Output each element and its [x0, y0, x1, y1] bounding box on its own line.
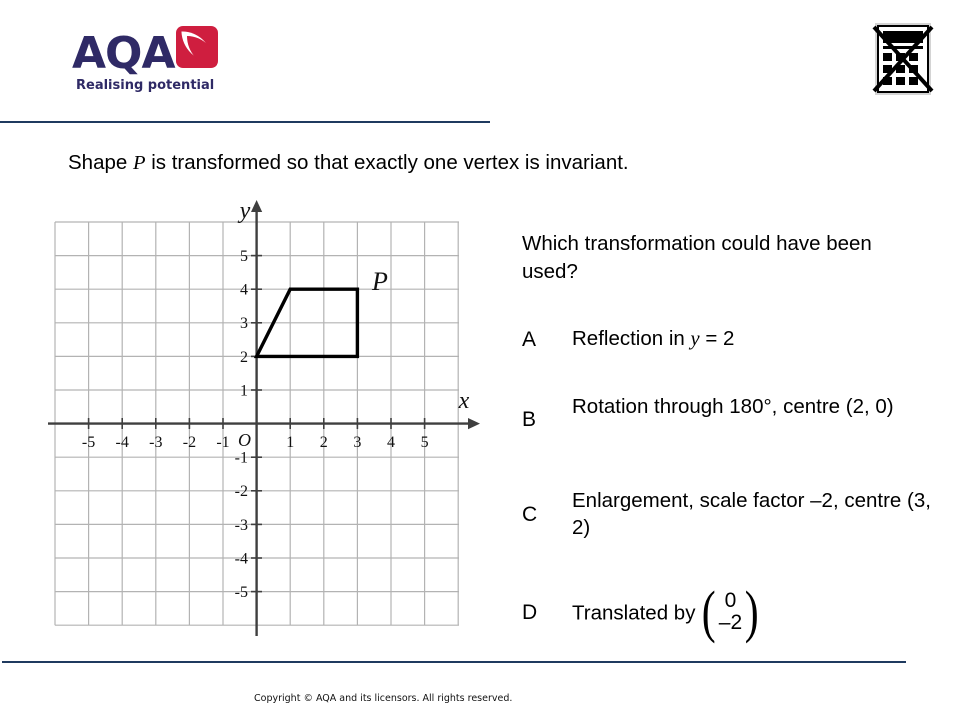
question-text: Which transformation could have been use… — [522, 230, 932, 285]
x-tick-label: 3 — [353, 434, 361, 451]
option-c-text: Enlargement, scale factor –2, centre (3,… — [572, 487, 942, 542]
y-tick-label: -1 — [235, 450, 248, 467]
x-tick-label: 2 — [320, 434, 328, 451]
option-b-letter: B — [522, 408, 536, 432]
option-a-variable: y — [691, 328, 700, 350]
y-tick-label: -4 — [235, 550, 248, 567]
y-tick-label: -5 — [235, 584, 248, 601]
copyright-text: Copyright © AQA and its licensors. All r… — [254, 693, 512, 704]
prompt-after: is transformed so that exactly one verte… — [146, 151, 629, 174]
y-tick-label: -2 — [235, 483, 248, 500]
option-b-text: Rotation through 180°, centre (2, 0) — [572, 393, 942, 420]
y-tick-label: 3 — [240, 315, 248, 332]
x-tick-label: 4 — [387, 434, 395, 451]
origin-label: O — [238, 430, 251, 450]
aqa-leaf-cut-shape — [187, 36, 217, 67]
option-a-text-after: = 2 — [700, 327, 735, 350]
prompt-text: Shape P is transformed so that exactly o… — [68, 151, 629, 175]
option-d-text: Translated by(0–2) — [572, 592, 942, 636]
vector-y-value: –2 — [719, 612, 742, 634]
x-tick-label: -3 — [149, 434, 162, 451]
option-c-letter: C — [522, 503, 537, 527]
aqa-tagline: Realising potential — [76, 78, 214, 93]
header-divider — [0, 121, 490, 123]
prompt-shape-letter: P — [133, 152, 146, 174]
vector-right-paren: ) — [745, 590, 759, 634]
y-tick-label: -3 — [235, 517, 248, 534]
aqa-logo-mark-icon — [176, 26, 218, 68]
aqa-logo: AQA Realising potential — [72, 18, 252, 98]
no-calculator-icon — [872, 20, 934, 98]
coordinate-grid-figure: -5 -4 -3 -2 -1 1 2 3 4 5 5 4 3 2 1 -1 -2… — [40, 196, 480, 644]
axes — [48, 212, 468, 636]
option-d-label: Translated by — [572, 601, 695, 624]
footer-divider — [2, 661, 906, 663]
y-tick-label: 4 — [240, 282, 248, 299]
prompt-before: Shape — [68, 151, 133, 174]
x-tick-label: -1 — [216, 434, 229, 451]
option-a-letter: A — [522, 328, 536, 352]
aqa-wordmark: AQA — [72, 32, 175, 76]
x-tick-label: -2 — [183, 434, 196, 451]
x-axis-label: x — [458, 388, 470, 414]
x-tick-label: 1 — [286, 434, 294, 451]
x-axis-arrow — [468, 418, 480, 429]
option-d-letter: D — [522, 601, 537, 625]
option-a-text: Reflection in y = 2 — [572, 325, 942, 353]
x-tick-label: -4 — [116, 434, 129, 451]
vector-left-paren: ( — [702, 590, 716, 634]
vector-values: 0–2 — [719, 590, 742, 634]
column-vector: (0–2) — [699, 590, 761, 634]
y-tick-label: 5 — [240, 248, 248, 265]
option-a-text-before: Reflection in — [572, 327, 691, 350]
y-axis-arrow — [251, 200, 262, 212]
vector-x-value: 0 — [719, 590, 742, 612]
x-tick-label: 5 — [421, 434, 429, 451]
y-axis-label: y — [238, 198, 251, 224]
x-tick-label: -5 — [82, 434, 95, 451]
shape-p-label: P — [371, 267, 388, 296]
y-tick-label: 1 — [240, 382, 248, 399]
y-tick-label: 2 — [240, 349, 248, 366]
